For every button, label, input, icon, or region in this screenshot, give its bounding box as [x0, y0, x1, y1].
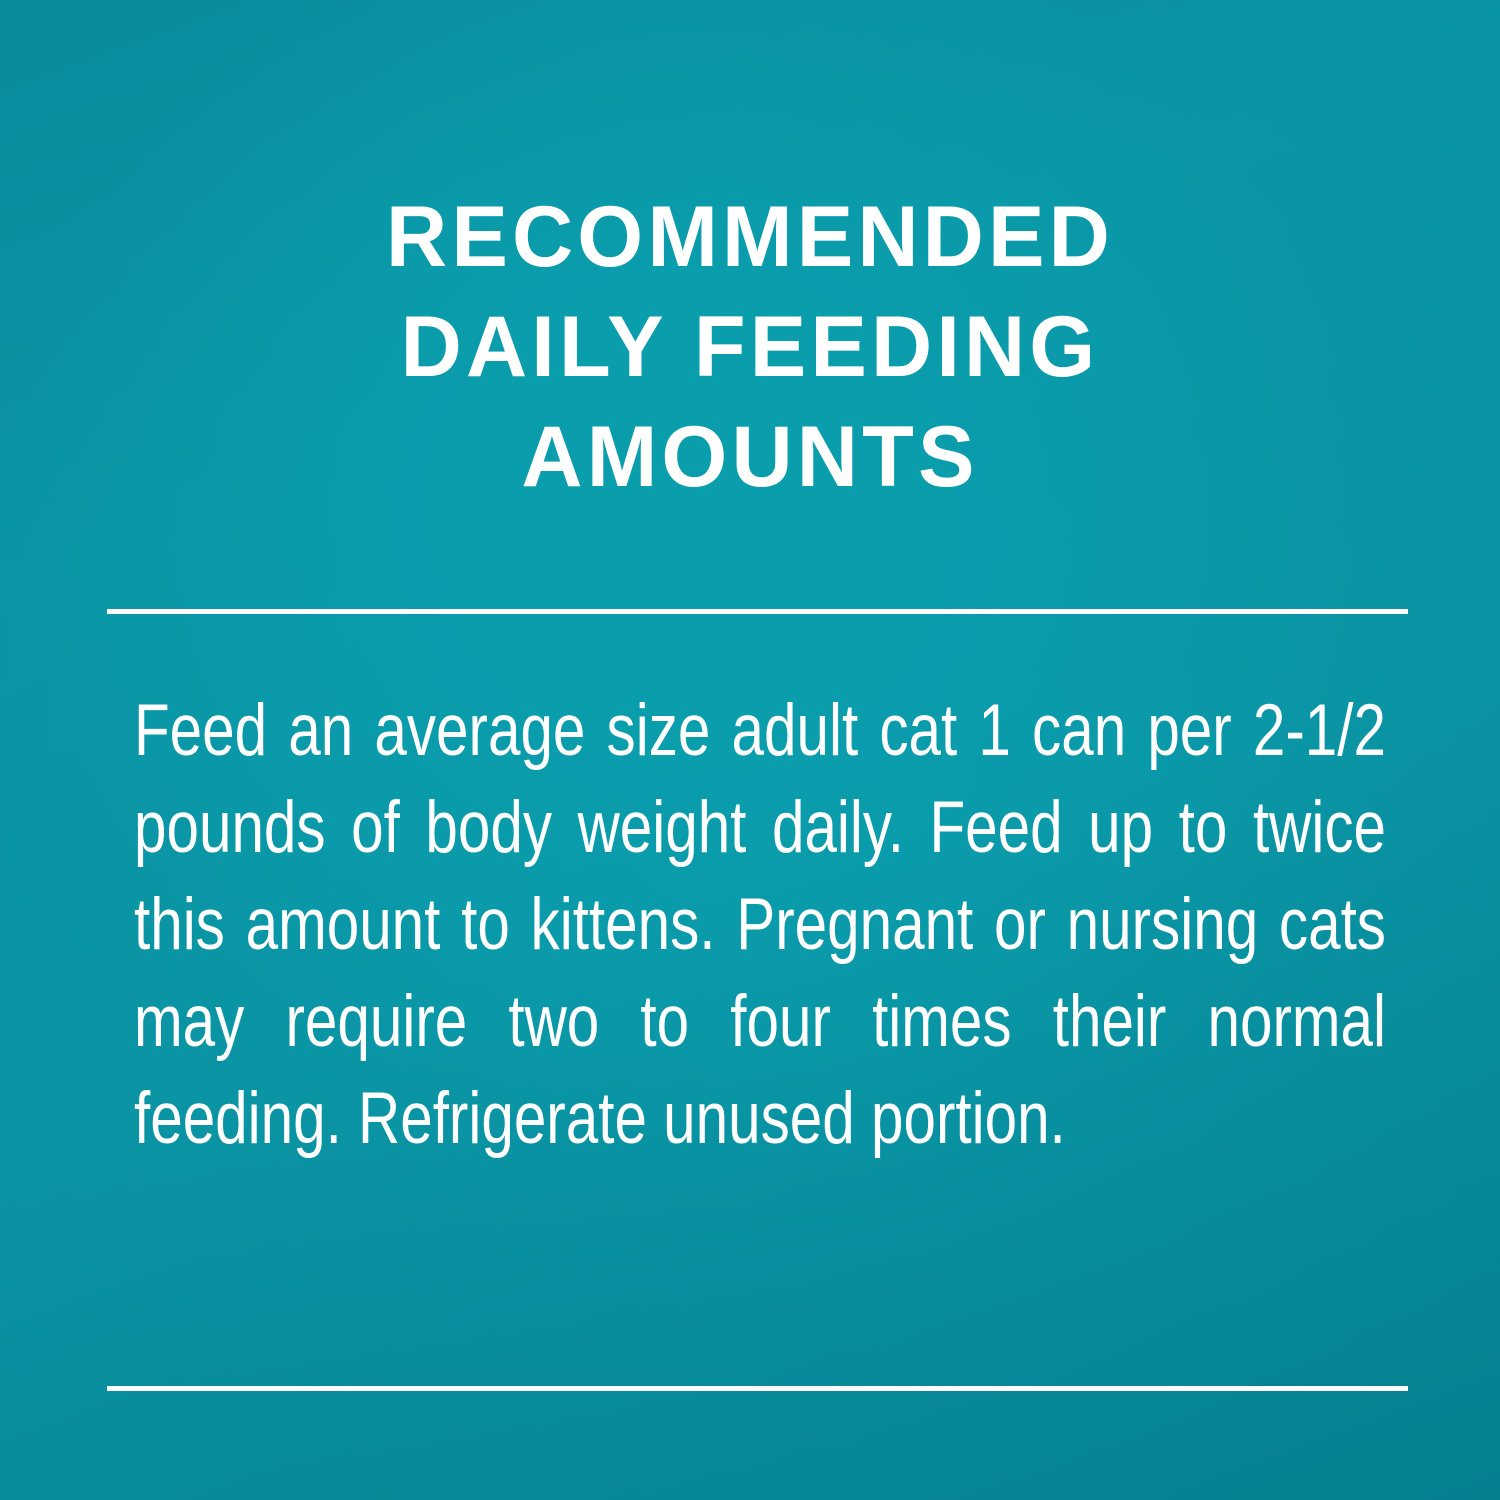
- page-title: RECOMMENDED DAILY FEEDING AMOUNTS: [0, 182, 1500, 512]
- page-title-line-1: RECOMMENDED: [11, 182, 1489, 292]
- feeding-instructions-panel: RECOMMENDED DAILY FEEDING AMOUNTS Feed a…: [0, 0, 1500, 1500]
- page-title-line-3: AMOUNTS: [11, 402, 1489, 512]
- bottom-divider: [107, 1386, 1408, 1391]
- page-title-line-2: DAILY FEEDING: [11, 292, 1489, 402]
- feeding-instructions-paragraph: Feed an average size adult cat 1 can per…: [134, 682, 1386, 1167]
- top-divider: [107, 609, 1408, 614]
- feeding-instructions-text-block: Feed an average size adult cat 1 can per…: [134, 682, 1386, 1167]
